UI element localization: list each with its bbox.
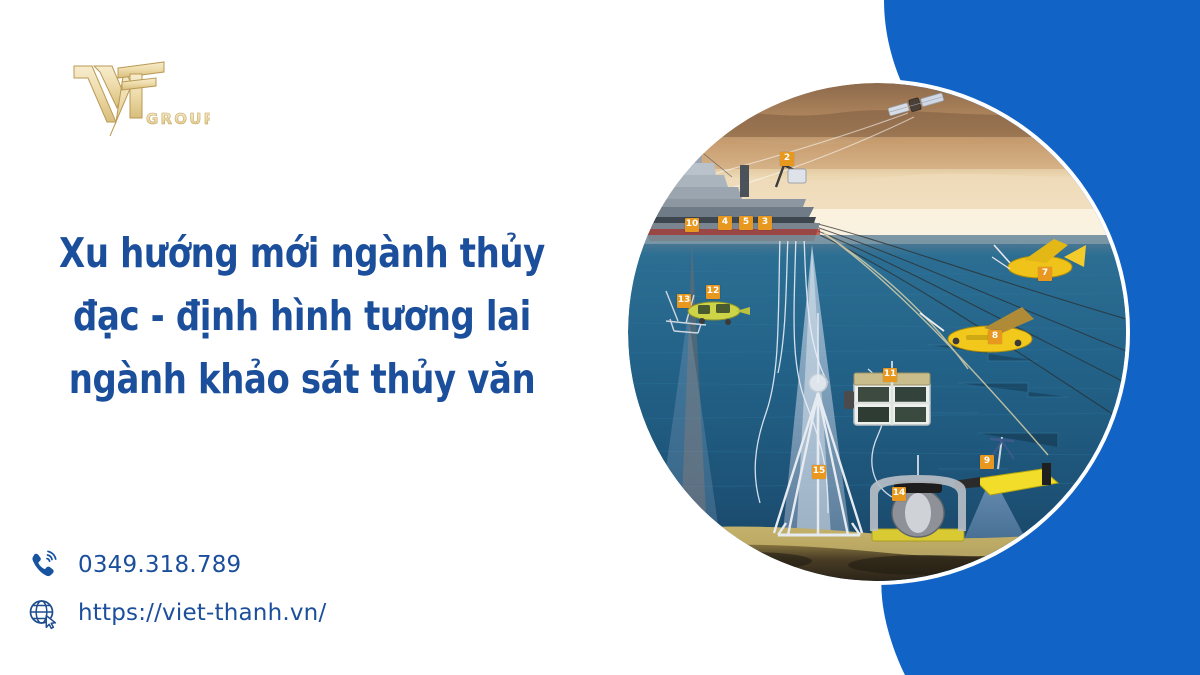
callout-single-beam: 10 (685, 218, 699, 232)
callout-auv-glider: 7 (1038, 267, 1052, 281)
callout-seabed-lander: 9 (980, 455, 994, 469)
logo-group-text: GROUP (146, 110, 210, 128)
phone-ringing-icon (26, 548, 60, 582)
callout-crawler: 14 (892, 487, 906, 501)
website-url: https://viet-thanh.vn/ (78, 600, 326, 626)
callout-side-scan-sonar: 13 (677, 294, 691, 308)
headline-line-2: đạc - định hình tương lai (46, 285, 558, 348)
hydrographic-survey-illustration (628, 83, 1126, 581)
callout-sound-velocity: 4 (718, 216, 732, 230)
callout-rov: 11 (883, 368, 897, 382)
headline-line-1: Xu hướng mới ngành thủy (46, 222, 558, 285)
contact-website-row[interactable]: https://viet-thanh.vn/ (26, 596, 326, 630)
callout-multibeam: 5 (739, 216, 753, 230)
vt-group-logo-icon: GROUP (60, 48, 210, 144)
phone-number: 0349.318.789 (78, 552, 241, 578)
contact-phone-row[interactable]: 0349.318.789 (26, 548, 326, 582)
promo-banner: GROUP Xu hướng mới ngành thủy đạc - định… (0, 0, 1200, 675)
callout-towfish: 12 (706, 285, 720, 299)
callout-survey-launch: 2 (780, 152, 794, 166)
contact-block: 0349.318.789 https://viet-thanh.vn/ (26, 548, 326, 630)
hero-image: 2104531312781191514 (628, 83, 1126, 581)
callout-tripod-frame: 15 (812, 465, 826, 479)
callout-usbl: 3 (758, 216, 772, 230)
callout-auv: 8 (988, 330, 1002, 344)
globe-cursor-icon (26, 596, 60, 630)
headline: Xu hướng mới ngành thủy đạc - định hình … (46, 222, 558, 411)
headline-line-3: ngành khảo sát thủy văn (46, 348, 558, 411)
company-logo[interactable]: GROUP (60, 48, 210, 144)
